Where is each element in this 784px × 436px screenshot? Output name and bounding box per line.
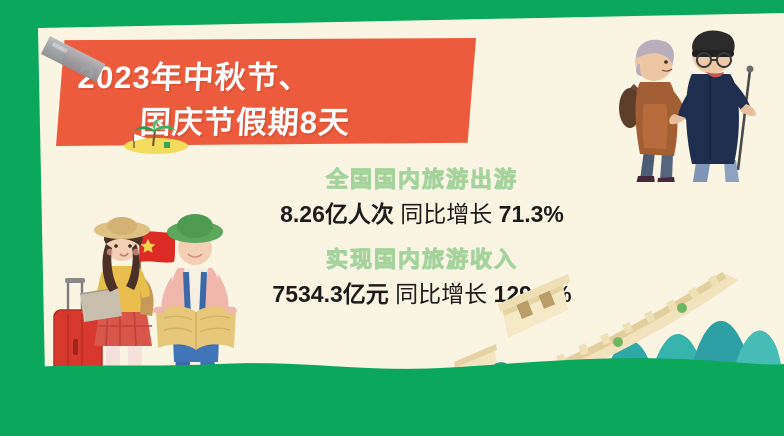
banner-title-line-1: 2023年中秋节、: [77, 52, 312, 97]
stat-divider-space: [252, 229, 592, 246]
green-ground: [0, 376, 784, 436]
stat-change-trips: 71.3%: [499, 201, 564, 227]
elderly-hikers-illustration: [600, 12, 780, 182]
infographic-canvas: 2023年中秋节、 国庆节假期8天 全国国内旅游出游 8.26亿人次 同比增长 …: [0, 0, 784, 436]
stat-value-trips: 8.26亿人次: [280, 201, 394, 227]
stat-label-trips: 同比增长: [400, 201, 492, 227]
stat-value-revenue: 7534.3亿元: [272, 281, 388, 307]
palm-island-icon: [106, 118, 190, 154]
stat-heading-tourism-trips: 全国国内旅游出游: [252, 166, 592, 194]
stat-row-tourism-trips: 8.26亿人次 同比增长 71.3%: [252, 200, 592, 230]
